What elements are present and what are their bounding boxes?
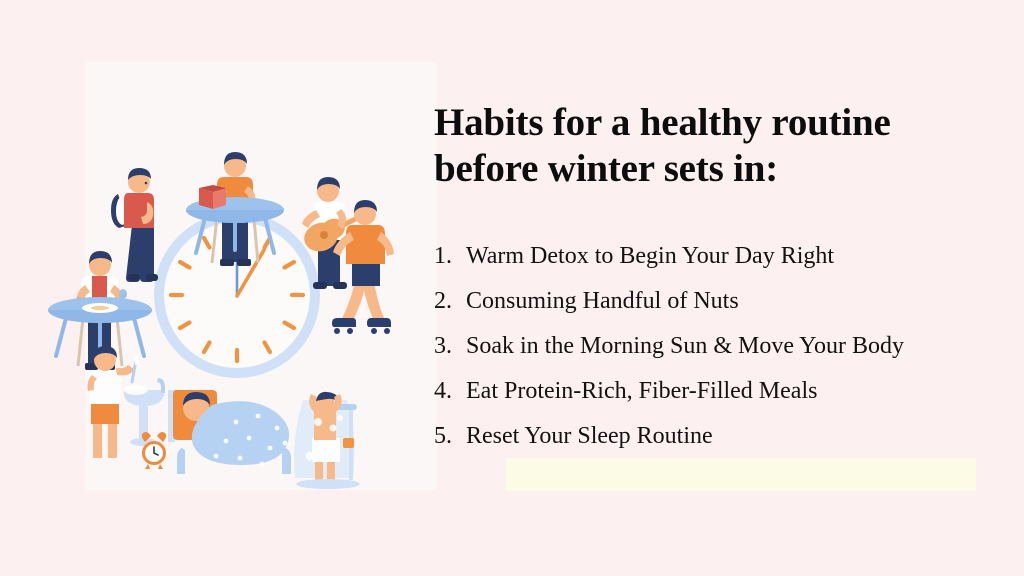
text-column: Habits for a healthy routine before wint… xyxy=(434,100,1004,459)
boy-with-backpack xyxy=(111,168,158,282)
list-item-number: 2. xyxy=(434,279,466,324)
list-item-label: Consuming Handful of Nuts xyxy=(466,279,739,324)
daily-routine-clock-illustration xyxy=(0,60,440,500)
list-item-label: Reset Your Sleep Routine xyxy=(466,414,713,459)
person-sleeping xyxy=(142,390,291,474)
alarm-clock xyxy=(142,432,166,469)
list-item: 5. Reset Your Sleep Routine xyxy=(434,414,1004,459)
highlight-band xyxy=(506,458,976,491)
list-item-label: Soak in the Morning Sun & Move Your Body xyxy=(466,324,904,369)
person-showering xyxy=(294,392,360,489)
list-item: 1. Warm Detox to Begin Your Day Right xyxy=(434,234,1004,279)
list-item-number: 4. xyxy=(434,369,466,414)
red-book xyxy=(199,185,226,209)
list-item-label: Eat Protein-Rich, Fiber-Filled Meals xyxy=(466,369,817,414)
page-title: Habits for a healthy routine before wint… xyxy=(434,100,994,192)
list-item: 3. Soak in the Morning Sun & Move Your B… xyxy=(434,324,1004,369)
list-item-number: 5. xyxy=(434,414,466,459)
list-item-number: 3. xyxy=(434,324,466,369)
habits-list: 1. Warm Detox to Begin Your Day Right 2.… xyxy=(434,234,1004,459)
slide-canvas: Habits for a healthy routine before wint… xyxy=(0,0,1024,576)
list-item: 4. Eat Protein-Rich, Fiber-Filled Meals xyxy=(434,369,1004,414)
list-item-number: 1. xyxy=(434,234,466,279)
list-item-label: Warm Detox to Begin Your Day Right xyxy=(466,234,834,279)
list-item: 2. Consuming Handful of Nuts xyxy=(434,279,1004,324)
